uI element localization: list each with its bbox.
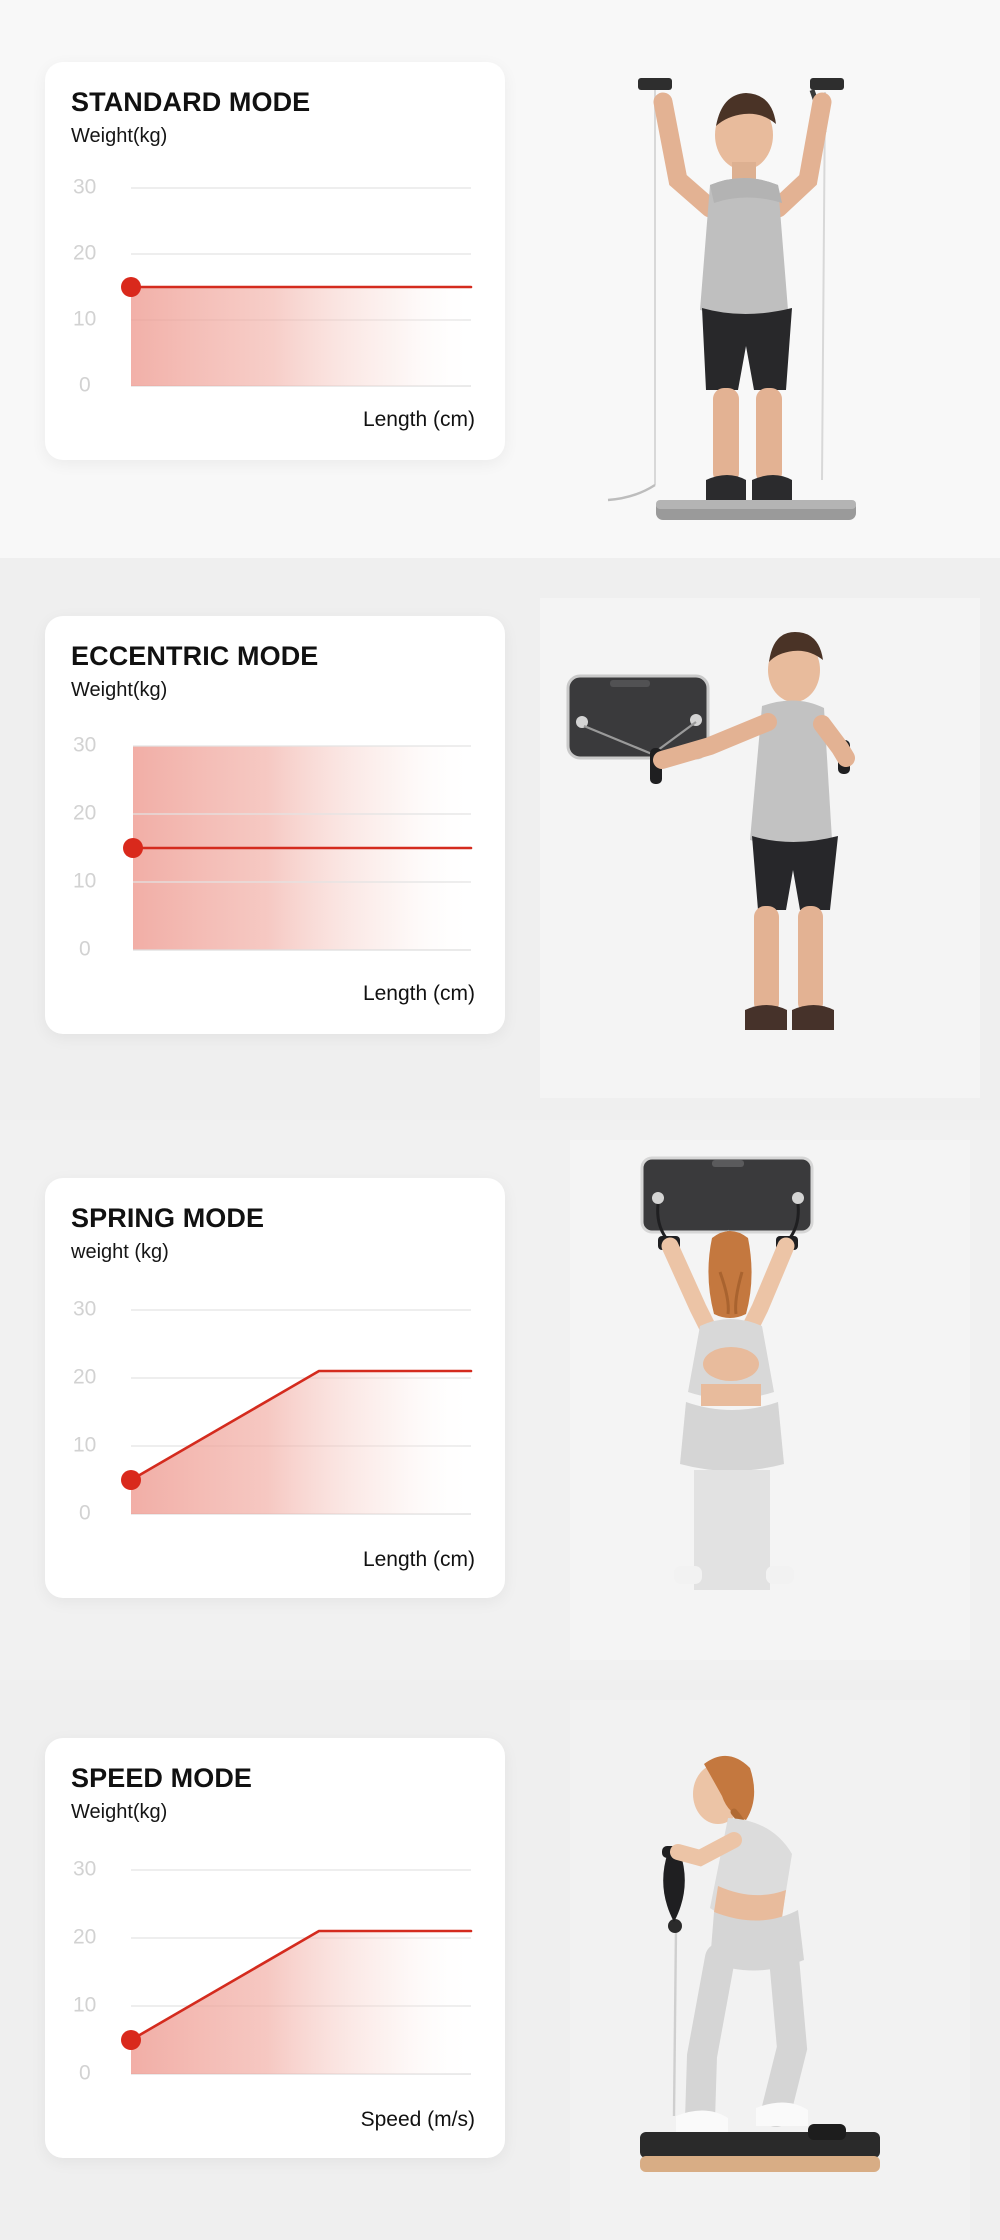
photo-spring-mode [570, 1140, 970, 1660]
photo-eccentric-mode [540, 598, 980, 1098]
ytick-20: 20 [73, 801, 96, 824]
chart-card-spring: SPRING MODE weight (kg) [45, 1178, 505, 1598]
ytick-30: 30 [73, 175, 96, 198]
card-title: ECCENTRIC MODE [71, 642, 477, 672]
area-fill [131, 1931, 471, 2074]
ytick-30: 30 [73, 1857, 96, 1880]
start-point-marker [121, 277, 141, 297]
photo-speed-mode [570, 1700, 970, 2240]
ytick-0: 0 [79, 937, 91, 960]
section-eccentric-mode: ECCENTRIC MODE Weight(kg) [0, 558, 1000, 1120]
chart-standard-mode: 30 20 10 0 Length (cm) [71, 162, 475, 412]
ytick-10: 10 [73, 1993, 96, 2016]
chart-svg: 30 20 10 0 [71, 716, 475, 984]
y-axis-title: Weight(kg) [71, 1800, 477, 1824]
chart-card-eccentric: ECCENTRIC MODE Weight(kg) [45, 616, 505, 1034]
card-title: SPRING MODE [71, 1204, 477, 1234]
section-standard-mode: STANDARD MODE Weight(kg) [0, 0, 1000, 558]
ytick-10: 10 [73, 869, 96, 892]
x-axis-label: Length (cm) [363, 982, 475, 1006]
chart-svg: 30 20 10 0 [71, 162, 475, 412]
chart-speed-mode: 30 20 10 0 Speed (m/s) [71, 1838, 475, 2110]
photo-illustration [570, 1700, 970, 2240]
ytick-0: 0 [79, 2061, 91, 2084]
photo-illustration [540, 598, 980, 1098]
chart-card-standard: STANDARD MODE Weight(kg) [45, 62, 505, 460]
ytick-0: 0 [79, 373, 91, 396]
ytick-10: 10 [73, 1433, 96, 1456]
start-point-marker [121, 2030, 141, 2050]
chart-eccentric-mode: 30 20 10 0 Length (cm) [71, 716, 475, 984]
card-title: SPEED MODE [71, 1764, 477, 1794]
y-axis-title: Weight(kg) [71, 678, 477, 702]
x-axis-label: Length (cm) [363, 408, 475, 432]
start-point-marker [121, 1470, 141, 1490]
ytick-30: 30 [73, 733, 96, 756]
chart-svg: 30 20 10 0 [71, 1838, 475, 2110]
area-fill [131, 287, 471, 386]
y-axis-title: Weight(kg) [71, 124, 477, 148]
modes-page: STANDARD MODE Weight(kg) [0, 0, 1000, 2240]
section-spring-mode: SPRING MODE weight (kg) [0, 1120, 1000, 1680]
ytick-10: 10 [73, 307, 96, 330]
chart-svg: 30 20 10 0 [71, 1278, 475, 1550]
x-axis-label: Speed (m/s) [361, 2108, 475, 2132]
area-fill [131, 1371, 471, 1514]
ytick-20: 20 [73, 1365, 96, 1388]
ytick-20: 20 [73, 241, 96, 264]
photo-illustration [570, 1140, 970, 1660]
chart-card-speed: SPEED MODE Weight(kg) [45, 1738, 505, 2158]
section-speed-mode: SPEED MODE Weight(kg) [0, 1680, 1000, 2240]
card-title: STANDARD MODE [71, 88, 477, 118]
photo-standard-mode [560, 30, 980, 550]
ytick-20: 20 [73, 1925, 96, 1948]
chart-spring-mode: 30 20 10 0 Length (cm) [71, 1278, 475, 1550]
x-axis-label: Length (cm) [363, 1548, 475, 1572]
photo-illustration [560, 30, 980, 550]
ytick-0: 0 [79, 1501, 91, 1524]
y-axis-title: weight (kg) [71, 1240, 477, 1264]
ytick-30: 30 [73, 1297, 96, 1320]
start-point-marker [123, 838, 143, 858]
